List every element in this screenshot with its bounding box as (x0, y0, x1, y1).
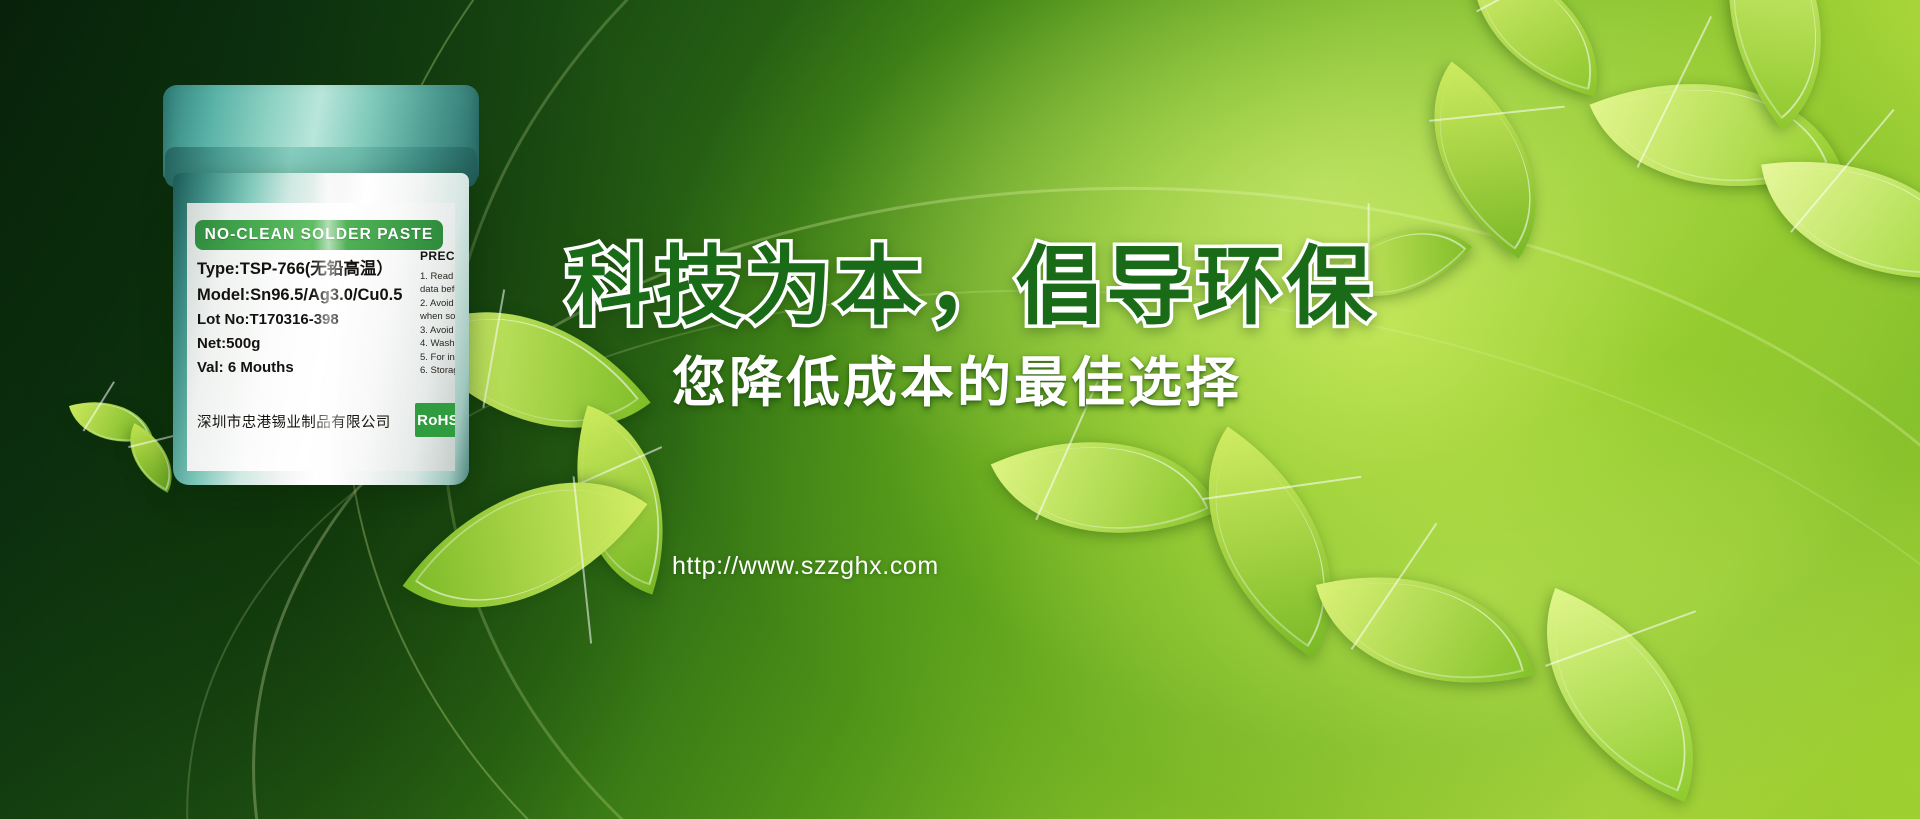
label-spec-net: Net:500g (197, 336, 447, 351)
product-label: NO-CLEAN SOLDER PASTE Type:TSP-766(无铅高温）… (187, 203, 455, 471)
rohs-badge-icon: RoHS (415, 403, 455, 437)
product-jar: NO-CLEAN SOLDER PASTE Type:TSP-766(无铅高温）… (163, 85, 479, 485)
label-spec-type: Type:TSP-766(无铅高温） (197, 261, 447, 278)
precaution-item: 5. For industrial us (420, 351, 455, 364)
label-spec-model: Model:Sn96.5/Ag3.0/Cu0.5 (197, 287, 447, 304)
precaution-item: data before use (420, 283, 455, 296)
precaution-block: PRECAUTION 1. Read MSDS and data before … (420, 249, 455, 378)
label-spec-list: Type:TSP-766(无铅高温） Model:Sn96.5/Ag3.0/Cu… (197, 261, 447, 384)
jar-body: NO-CLEAN SOLDER PASTE Type:TSP-766(无铅高温）… (173, 173, 469, 485)
label-company-name: 深圳市忠港锡业制品有限公司 (197, 411, 412, 432)
website-url: http://www.szzghx.com (672, 552, 939, 581)
page-subtitle: 您降低成本的最佳选择 (672, 338, 1242, 417)
precaution-item: when soldering (420, 310, 455, 323)
label-spec-lot: Lot No:T170316-398 (197, 312, 447, 327)
promo-banner: NO-CLEAN SOLDER PASTE Type:TSP-766(无铅高温）… (0, 0, 1920, 819)
label-spec-validity: Val: 6 Mouths (197, 360, 447, 375)
precaution-item: 2. Avoid breathing (420, 297, 455, 310)
precaution-item: 6. Storage Temp: (420, 364, 455, 377)
label-title: NO-CLEAN SOLDER PASTE (195, 220, 443, 250)
precaution-item: 4. Wash hands afte (420, 337, 455, 350)
precaution-item: 1. Read MSDS and (420, 270, 455, 283)
precaution-item: 3. Avoid skin conta (420, 324, 455, 337)
precaution-title: PRECAUTION (420, 249, 455, 263)
page-title: 科技为本，倡导环保 (566, 216, 1376, 341)
